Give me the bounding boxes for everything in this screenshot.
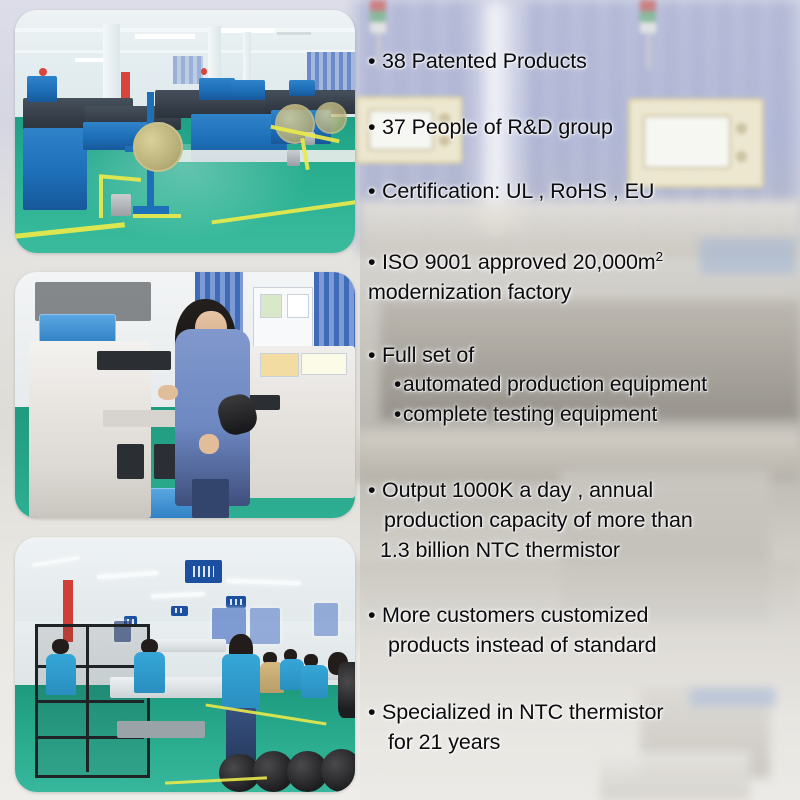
photo1-floor-marking (99, 176, 103, 218)
bullet-certification: •Certification: UL , RoHS , EU (368, 176, 800, 206)
photo1-tape-roll (315, 102, 347, 134)
photo1-machine-cabinet (289, 80, 315, 96)
photo3-worker-uniform (134, 652, 165, 693)
bullet-line-continued: modernization factory (368, 277, 800, 307)
bullet-line: •38 Patented Products (368, 46, 800, 76)
photo1-floor-marking (133, 214, 181, 218)
bullet-dot: • (368, 112, 382, 142)
bullet-line: •More customers customized (368, 600, 800, 630)
bullet-text: More customers customized (382, 603, 648, 627)
photo2-control-panel (301, 353, 347, 375)
photo3-wall-sign (185, 560, 222, 583)
photo2-worker-hand (199, 434, 219, 454)
bullet-line-continued: for 21 years (368, 727, 800, 757)
photo1-tape-roll (133, 122, 183, 172)
photo2-machine-rail (97, 351, 172, 371)
photo1-ceiling-beam (15, 50, 355, 53)
bullet-text: Specialized in NTC thermistor (382, 700, 663, 724)
sub-bullet-dot: • (394, 370, 403, 400)
bullet-dot: • (368, 176, 382, 206)
bullet-text: 38 Patented Products (382, 49, 587, 73)
photo3-work-table (151, 639, 226, 652)
photo1-machine-cabinet (231, 80, 265, 100)
sub-bullet-line: •automated production equipment (368, 370, 800, 400)
worker-operating-machine-photo (15, 272, 355, 518)
bullet-rd-group: •37 People of R&D group (368, 112, 800, 142)
photo1-ceiling-fan (277, 32, 311, 35)
photo3-rack-shelf (35, 700, 144, 703)
bullet-iso-factory: •ISO 9001 approved 20,000m2 modernizatio… (368, 247, 800, 307)
photo3-work-table (110, 677, 226, 697)
bullet-line-continued: products instead of standard (368, 630, 800, 660)
capability-slide: •38 Patented Products •37 People of R&D … (0, 0, 800, 800)
bullet-patented-products: •38 Patented Products (368, 46, 800, 76)
bullet-dot: • (368, 697, 382, 727)
bullet-text: Certification: UL , RoHS , EU (382, 179, 654, 203)
bullet-text: Output 1000K a day , annual (382, 478, 653, 502)
bullet-full-set: •Full set of •automated production equip… (368, 340, 800, 430)
bullet-line-continued: 1.3 billion NTC thermistor (368, 535, 800, 565)
photo3-wall-sign (171, 606, 188, 616)
photo1-ceiling-light (135, 34, 195, 39)
bullet-line: •Full set of (368, 340, 800, 370)
sub-bullet-text: complete testing equipment (403, 403, 657, 426)
bullet-line-continued: production capacity of more than (368, 505, 800, 535)
sub-bullet-line: •complete testing equipment (368, 400, 800, 430)
bullet-dot: • (368, 340, 382, 370)
photo1-machine-cabinet (199, 78, 235, 100)
bullet-dot: • (368, 600, 382, 630)
photo2-notice-sheet (287, 294, 309, 318)
factory-production-line-photo (15, 10, 355, 253)
photo1-alarm-light (201, 68, 207, 75)
photo3-worker-uniform (301, 665, 328, 698)
photo3-wall-sign (226, 596, 246, 609)
sub-bullet-dot: • (394, 400, 403, 430)
bullet-text: Full set of (382, 343, 474, 367)
photo3-coil-stack (338, 662, 355, 718)
photo3-coil-reel (321, 749, 355, 792)
bullet-line: •37 People of R&D group (368, 112, 800, 142)
photo2-worker-jeans (192, 479, 229, 518)
bullet-customized-products: •More customers customized products inst… (368, 600, 800, 660)
bullet-dot: • (368, 475, 382, 505)
photo3-blue-window (250, 608, 281, 644)
assembly-line-workers-photo (15, 537, 355, 792)
bullet-line: •ISO 9001 approved 20,000m2 (368, 247, 800, 277)
photo3-work-table (117, 721, 205, 739)
bullet-text-column: •38 Patented Products •37 People of R&D … (360, 0, 800, 800)
photo1-alarm-light (39, 68, 47, 76)
photo2-notice-sheet (260, 294, 282, 318)
bullet-text: 37 People of R&D group (382, 115, 613, 139)
square-meter-superscript: 2 (656, 249, 663, 264)
bullet-dot: • (368, 46, 382, 76)
bullet-output-capacity: •Output 1000K a day , annual production … (368, 475, 800, 565)
photo2-machine-block (117, 444, 144, 478)
bullet-specialized-years: •Specialized in NTC thermistor for 21 ye… (368, 697, 800, 757)
photo3-blue-window (314, 603, 338, 636)
bullet-dot: • (368, 247, 382, 277)
sub-bullet-text: automated production equipment (403, 373, 707, 396)
photo3-worker-uniform (46, 654, 77, 695)
photo1-wire-spool (111, 194, 131, 216)
photo3-worker-uniform (222, 654, 259, 710)
photo2-curtain (314, 272, 355, 356)
photo2-worker-hand (158, 385, 178, 400)
bullet-text: ISO 9001 approved 20,000m (382, 250, 656, 274)
photo1-stand-base (133, 206, 169, 214)
photo1-machine-cabinet (27, 76, 57, 102)
bullet-line: •Specialized in NTC thermistor (368, 697, 800, 727)
bullet-line: •Certification: UL , RoHS , EU (368, 176, 800, 206)
bullet-line: •Output 1000K a day , annual (368, 475, 800, 505)
photo3-rack-post (86, 624, 89, 772)
photo1-machine (23, 128, 87, 210)
photo2-control-panel (260, 353, 299, 377)
photo1-bench (165, 150, 355, 162)
photo1-wire-spool (287, 150, 300, 166)
